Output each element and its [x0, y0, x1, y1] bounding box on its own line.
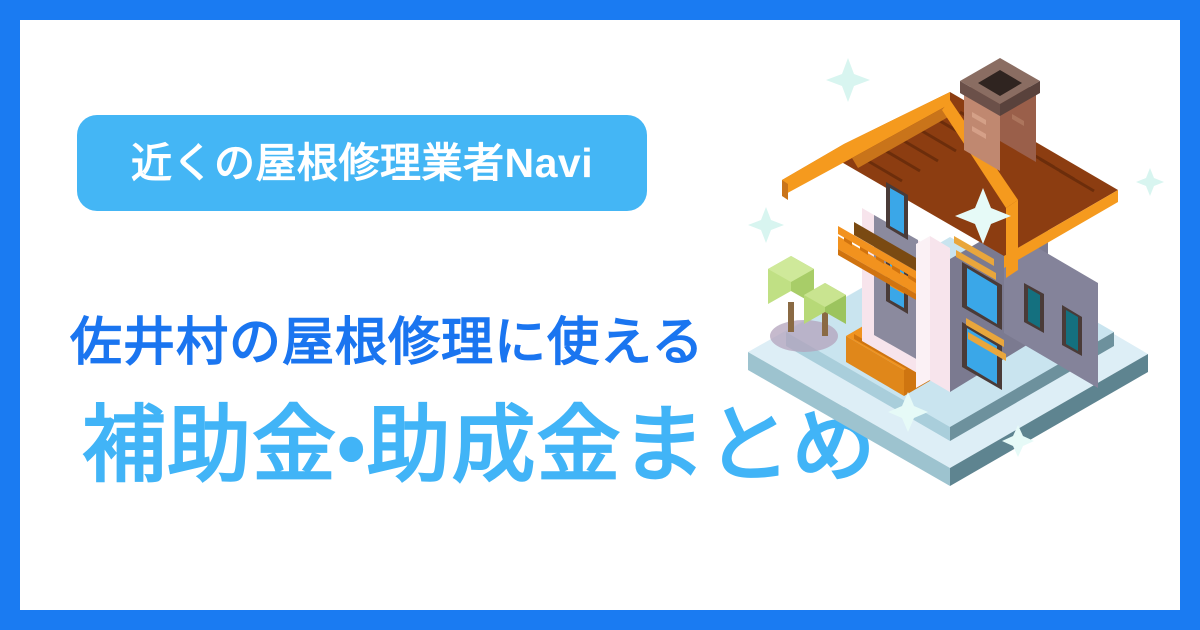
- isometric-house-illustration: [718, 40, 1180, 510]
- site-badge: 近くの屋根修理業者Navi: [77, 115, 647, 211]
- headline-line-1: 佐井村の屋根修理に使える: [70, 314, 704, 372]
- house-pillar: [916, 236, 950, 392]
- tree-group: [768, 256, 846, 352]
- site-badge-label: 近くの屋根修理業者Navi: [131, 143, 593, 184]
- card-inner: 近くの屋根修理業者Navi 佐井村の屋根修理に使える 補助金・助成金まとめ: [20, 20, 1180, 610]
- og-card: 近くの屋根修理業者Navi 佐井村の屋根修理に使える 補助金・助成金まとめ: [0, 0, 1200, 630]
- chimney: [960, 58, 1040, 171]
